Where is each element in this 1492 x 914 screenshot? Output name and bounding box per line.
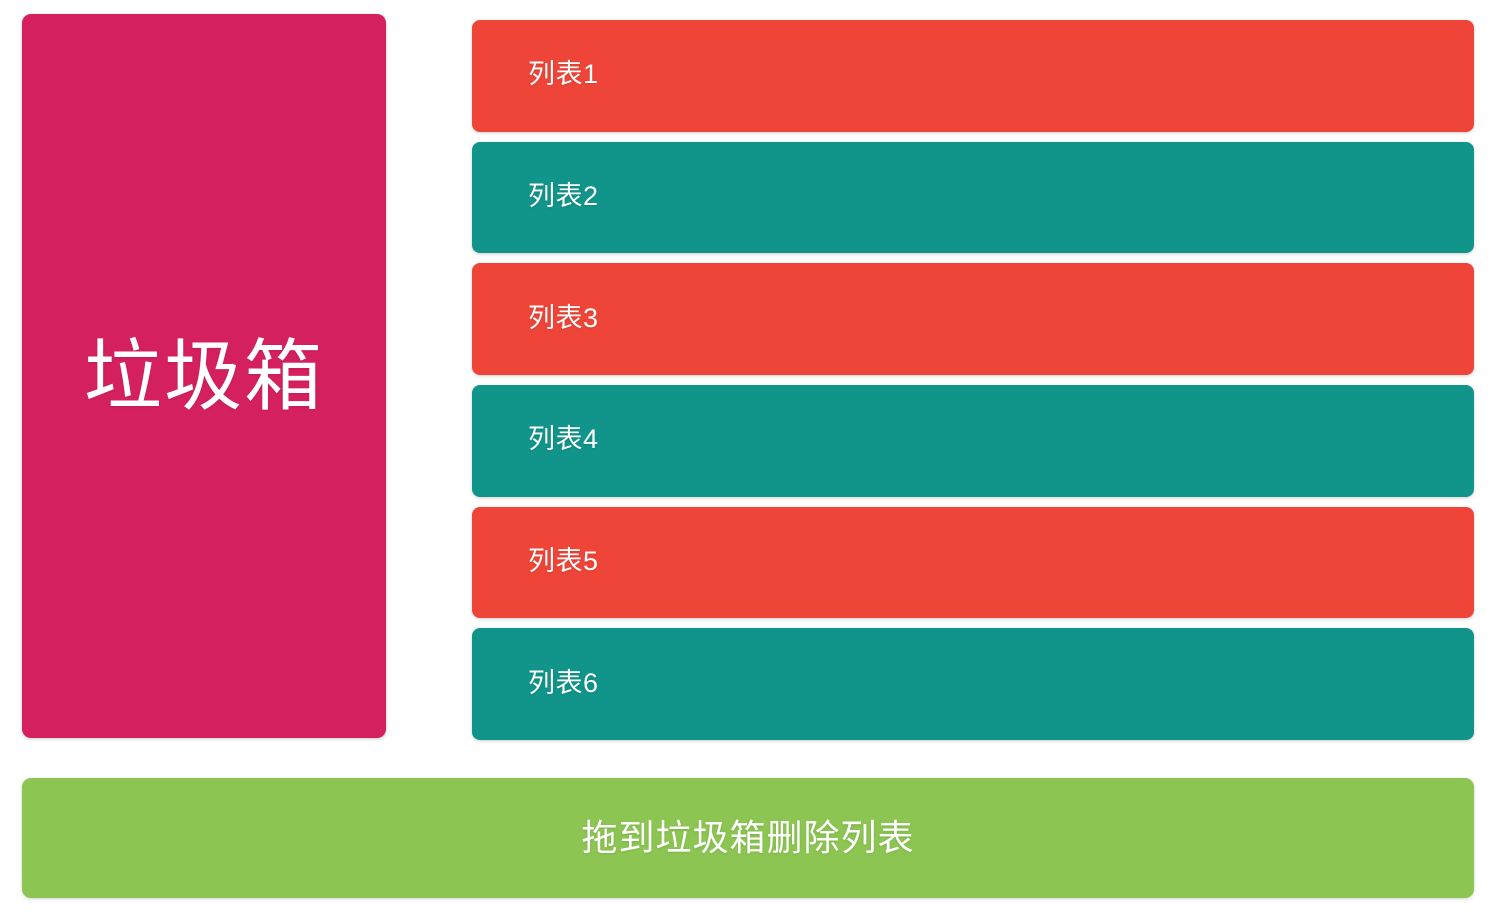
list-item-label: 列表5: [528, 548, 599, 575]
list-item-label: 列表4: [528, 426, 599, 453]
trash-drop-zone[interactable]: 垃圾箱: [22, 14, 386, 738]
list-item[interactable]: 列表3: [472, 263, 1474, 375]
trash-drop-zone-label: 垃圾箱: [84, 337, 324, 415]
instruction-bar: 拖到垃圾箱删除列表: [22, 778, 1474, 898]
drag-and-drop-demo-page: 垃圾箱 列表1列表2列表3列表4列表5列表6 拖到垃圾箱删除列表: [0, 0, 1492, 914]
list-item-label: 列表2: [528, 183, 599, 210]
list-item-label: 列表3: [528, 305, 599, 332]
list-item-label: 列表6: [528, 670, 599, 697]
list-item[interactable]: 列表4: [472, 385, 1474, 497]
instruction-bar-label: 拖到垃圾箱删除列表: [581, 820, 914, 856]
list-item[interactable]: 列表2: [472, 142, 1474, 254]
draggable-list: 列表1列表2列表3列表4列表5列表6: [472, 20, 1474, 740]
list-item[interactable]: 列表6: [472, 628, 1474, 740]
list-item[interactable]: 列表5: [472, 507, 1474, 619]
list-item[interactable]: 列表1: [472, 20, 1474, 132]
list-item-label: 列表1: [528, 61, 599, 88]
